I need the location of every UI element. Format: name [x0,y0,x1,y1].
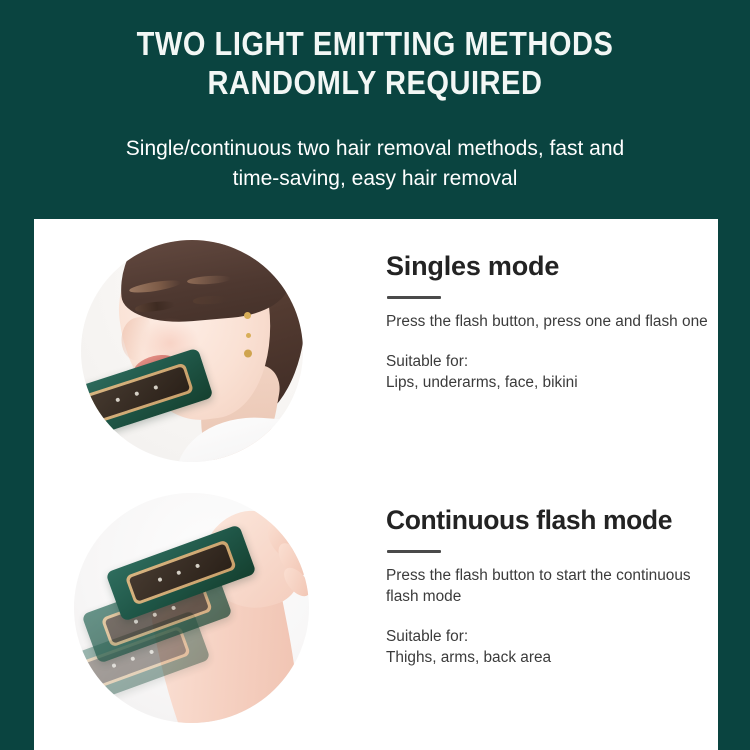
device-indicator-dot [134,392,139,397]
suitable-label-singles: Suitable for: [386,351,716,372]
device-indicator-dot [176,571,181,576]
content-card: Singles mode Press the flash button, pre… [34,219,718,750]
feature-section-continuous: Continuous flash mode Press the flash bu… [34,481,718,750]
product-feature-banner: TWO LIGHT EMITTING METHODS RANDOMLY REQU… [0,0,750,750]
page-title: TWO LIGHT EMITTING METHODS RANDOMLY REQU… [0,24,750,102]
earring-shape [244,312,251,319]
photo-continuous-mode [74,493,309,723]
device-indicator-dot [133,620,138,625]
title-line-2: RANDOMLY REQUIRED [45,63,705,102]
device-indicator-dot [153,385,158,390]
device-indicator-dot [152,613,157,618]
device-indicator-dot [149,650,154,655]
device-indicator-dot [171,606,176,611]
suitable-label-continuous: Suitable for: [386,626,718,647]
suitable-value-continuous: Thighs, arms, back area [386,647,718,668]
description-continuous-mode: Press the flash button to start the cont… [386,565,718,607]
page-subtitle: Single/continuous two hair removal metho… [0,134,750,194]
heading-continuous-mode: Continuous flash mode [386,503,718,537]
description-singles-mode: Press the flash button, press one and fl… [386,311,716,332]
heading-singles-mode: Singles mode [386,249,716,283]
heading-divider [387,296,441,299]
suitable-value-singles: Lips, underarms, face, bikini [386,372,716,393]
device-indicator-dot [115,398,120,403]
photo-singles-mode [81,240,303,462]
device-indicator-dot [130,657,135,662]
title-line-1: TWO LIGHT EMITTING METHODS [45,24,705,63]
device-indicator-dot [157,578,162,583]
feature-section-singles: Singles mode Press the flash button, pre… [34,219,718,481]
subtitle-line-2: time-saving, easy hair removal [0,164,750,194]
text-block-continuous: Continuous flash mode Press the flash bu… [386,503,718,668]
device-indicator-dot [111,664,116,669]
device-indicator-dot [195,564,200,569]
subtitle-line-1: Single/continuous two hair removal metho… [0,134,750,164]
text-block-singles: Singles mode Press the flash button, pre… [386,249,716,393]
heading-divider [387,550,441,553]
header-band: TWO LIGHT EMITTING METHODS RANDOMLY REQU… [0,0,750,219]
